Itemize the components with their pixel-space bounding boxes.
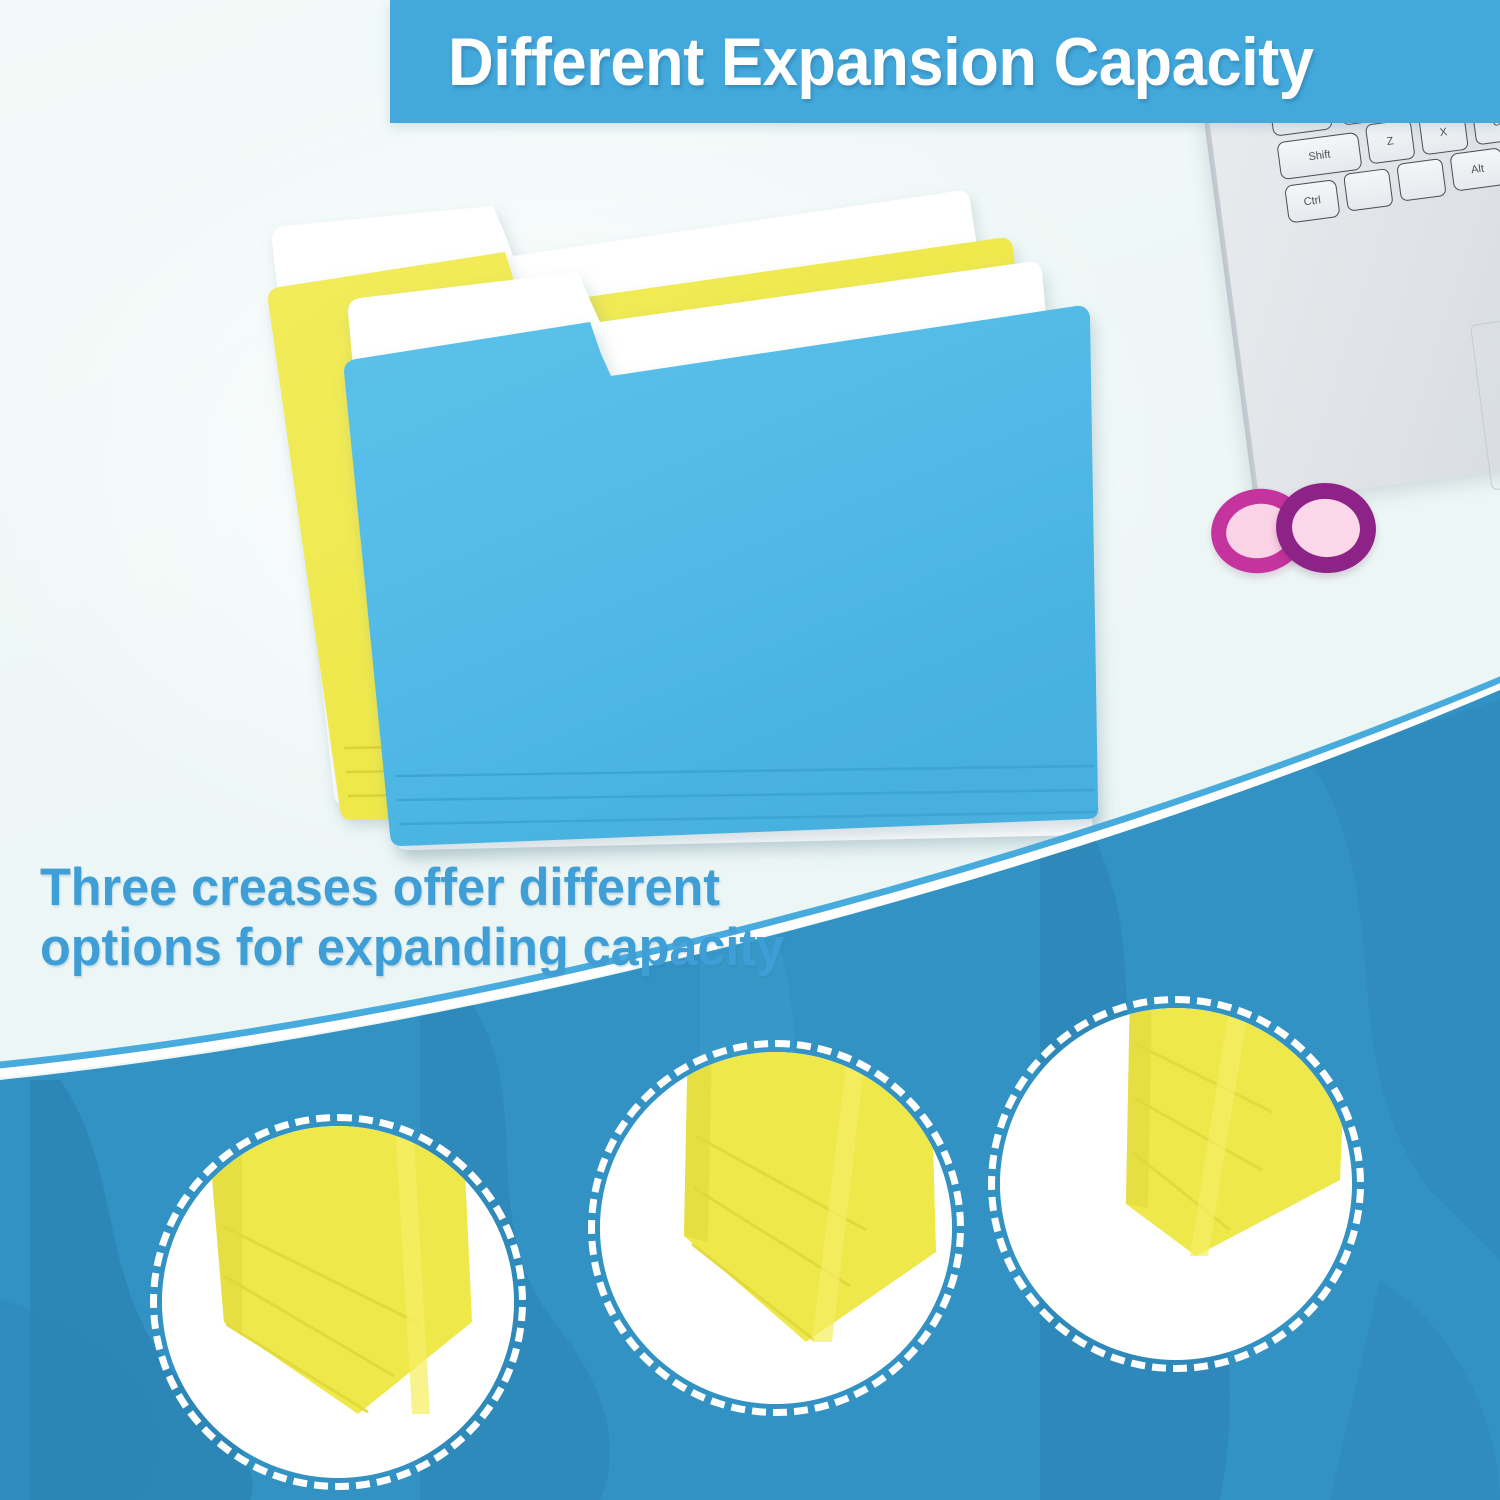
caption-line-1: Three creases offer different: [40, 858, 895, 918]
caption-text: Three creases offer different options fo…: [40, 858, 895, 979]
crease-detail-1: [162, 1126, 514, 1478]
crease-detail-3: [1000, 1008, 1352, 1360]
product-infographic: Caps Shift Z X C Ctrl Alt: [0, 0, 1500, 1500]
header-banner: Different Expansion Capacity: [390, 0, 1500, 123]
blue-folder-front-panel: [344, 306, 1098, 846]
crease-detail-2: [600, 1052, 952, 1404]
page-title: Different Expansion Capacity: [448, 28, 1314, 96]
caption-line-2: options for expanding capacity: [40, 918, 895, 978]
